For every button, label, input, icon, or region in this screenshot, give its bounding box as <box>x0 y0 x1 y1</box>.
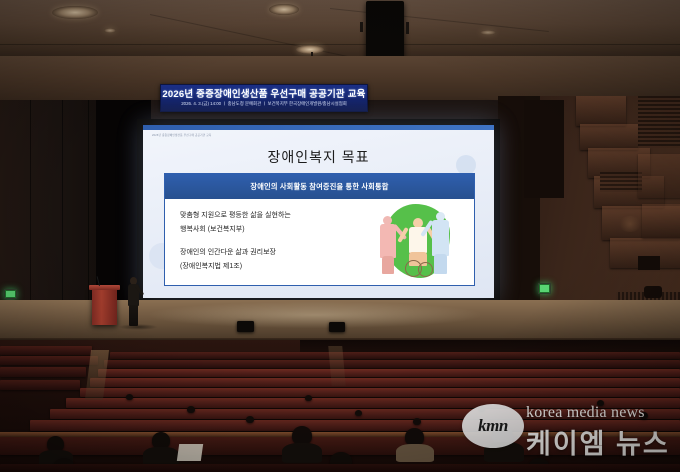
auditorium-seating <box>0 340 680 472</box>
slide-microtext: 2026년 중증장애인생산품 우선구매 공공기관 교육 <box>152 133 211 137</box>
podium-top <box>89 285 120 290</box>
slide-header-text: 장애인의 사회활동 참여증진을 통한 사회통합 <box>250 182 388 192</box>
slide-line: 장애인의 인간다운 삶과 권리보장 <box>180 247 276 257</box>
seat-row <box>90 378 680 387</box>
seat-row <box>0 367 86 377</box>
attendee <box>413 418 421 425</box>
curtain-fold <box>30 100 31 315</box>
seat-row <box>98 369 680 377</box>
slide-title: 장애인복지 목표 <box>143 147 494 167</box>
attendee <box>597 400 604 406</box>
ceiling-seam <box>0 44 680 45</box>
slide-line: (장애인복지법 제1조) <box>180 261 242 271</box>
ceiling-downlight <box>269 4 299 15</box>
seat-row <box>80 388 680 397</box>
ceiling-downlight <box>480 30 496 35</box>
attendee-shoulders <box>282 443 322 463</box>
slide-line: 맞춤형 지원으로 평등한 삶을 실현하는 <box>180 210 291 220</box>
attendee <box>305 395 312 401</box>
seat-row <box>50 409 680 419</box>
attendee-shoulders <box>396 444 434 462</box>
ceiling-downlight <box>296 45 324 54</box>
illustration-figure-right <box>430 212 454 278</box>
attendee-shoulders <box>143 447 179 465</box>
attendee <box>187 406 195 413</box>
attendee <box>478 406 485 412</box>
slide-box-header: 장애인의 사회활동 참여증진을 통한 사회통합 <box>165 174 474 199</box>
slide-content-box: 장애인의 사회활동 참여증진을 통한 사회통합 맞춤형 지원으로 평등한 삶을 … <box>164 173 475 286</box>
speaker-mount-rod <box>360 22 363 32</box>
slide-body: 맞춤형 지원으로 평등한 삶을 실현하는 행복사회 (보건복지부) 장애인의 인… <box>165 199 474 285</box>
seat-row <box>110 352 680 359</box>
stage-monitor-speaker <box>237 321 254 332</box>
attendee <box>640 412 648 419</box>
curtain-fold <box>62 100 63 315</box>
seat-row <box>104 360 680 368</box>
seat-row <box>0 380 80 390</box>
speaker-mount-rod <box>406 22 409 34</box>
event-banner: 2026년 중증장애인생산품 우선구매 공공기관 교육 2026. 4. 3.(… <box>160 84 368 112</box>
auditorium-photo: 2026년 중증장애인생산품 우선구매 공공기관 교육 2026. 4. 3.(… <box>0 0 680 472</box>
seat-row <box>66 398 680 408</box>
attendee <box>126 394 133 400</box>
ceiling-downlight <box>52 6 98 19</box>
stage-light-pool <box>150 302 480 328</box>
handout-paper <box>177 444 203 461</box>
exit-sign-icon <box>538 283 551 294</box>
seat-row <box>30 420 680 431</box>
attendee <box>246 416 254 423</box>
ceiling-downlight <box>104 28 116 33</box>
slide-illustration <box>370 202 466 282</box>
banner-title: 2026년 중증장애인생산품 우선구매 공공기관 교육 <box>162 90 365 100</box>
banner-subtitle: 2026. 4. 3.(금) 14:00 ㅣ 충남도청 문예회관 ㅣ 보건복지부… <box>181 102 347 106</box>
attendee <box>355 410 362 416</box>
stage-monitor-speaker <box>329 322 345 332</box>
curtain-fold <box>88 100 89 315</box>
projection-screen: 2026년 중증장애인생산품 우선구매 공공기관 교육 장애인복지 목표 장애인… <box>143 125 494 298</box>
seat-row <box>0 346 92 355</box>
attendee-shoulders <box>484 442 524 462</box>
presenter-legs <box>129 305 138 326</box>
presenter <box>126 277 142 327</box>
seat-row <box>0 356 98 365</box>
slide-line: 행복사회 (보건복지부) <box>180 224 245 234</box>
slide-top-accent-bar <box>143 125 494 130</box>
illustration-figure-left <box>378 216 400 276</box>
exit-sign-icon <box>4 289 17 299</box>
seat-row <box>0 464 680 472</box>
podium <box>92 288 117 325</box>
